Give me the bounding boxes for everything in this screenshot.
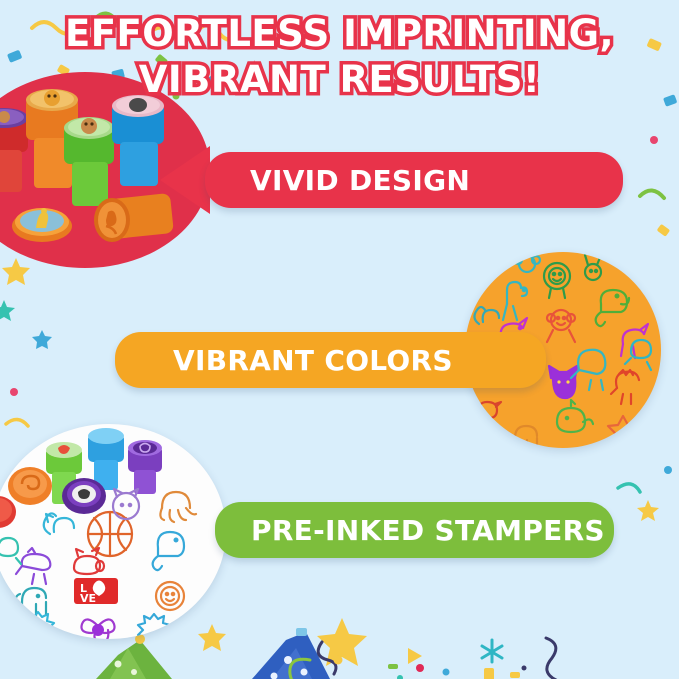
party-hat-green-group xyxy=(96,634,172,679)
blue-stamper xyxy=(112,95,164,186)
feature-banner-vivid-design[interactable]: VIVID DESIGN xyxy=(205,152,623,208)
party-hat-blue-group xyxy=(252,628,330,679)
feature-banner-vibrant-colors[interactable]: VIBRANT COLORS xyxy=(115,332,546,388)
red-stamper xyxy=(0,108,28,192)
headline: EFFORTLESS IMPRINTING, VIBRANT RESULTS! xyxy=(0,12,679,102)
feature-banner-pre-inked-stampers[interactable]: PRE-INKED STAMPERS xyxy=(215,502,614,558)
infographic-canvas: EFFORTLESS IMPRINTING, VIBRANT RESULTS! xyxy=(0,0,679,679)
feature-label-pre-inked-stampers: PRE-INKED STAMPERS xyxy=(251,514,605,547)
headline-line-2: VIBRANT RESULTS! xyxy=(0,58,679,102)
orange-flat-stamper xyxy=(12,208,72,242)
green-stamper xyxy=(64,117,114,206)
banner-tail-vivid-design xyxy=(160,146,210,214)
headline-line-1: EFFORTLESS IMPRINTING, xyxy=(0,12,679,56)
feature-image-pre-inked-stampers: L VE xyxy=(0,424,226,639)
paper-imprints-svg: L VE xyxy=(0,424,226,639)
feature-label-vibrant-colors: VIBRANT COLORS xyxy=(173,344,453,377)
feature-label-vivid-design: VIVID DESIGN xyxy=(250,164,470,197)
svg-text:VE: VE xyxy=(80,592,96,605)
